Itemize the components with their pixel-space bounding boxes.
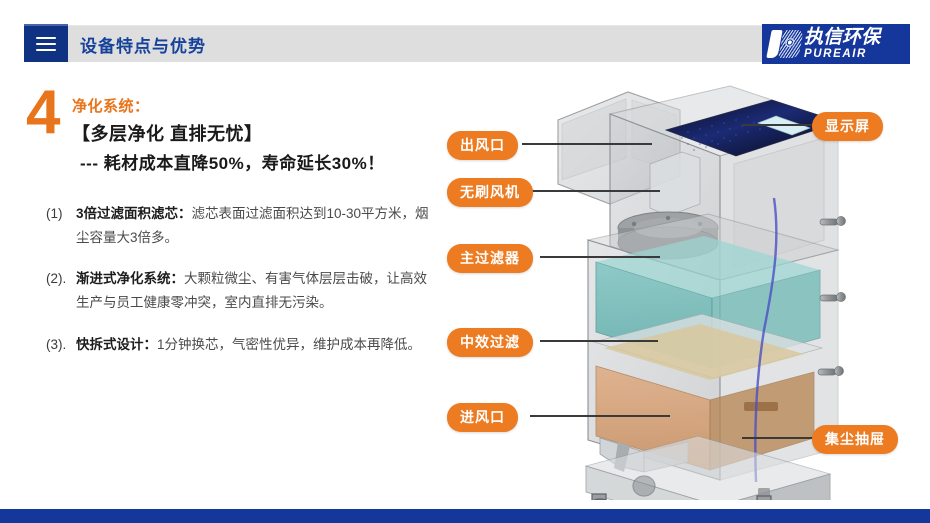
headline-block: 净化系统： 【多层净化 直排无忧】 --- 耗材成本直降50%，寿命延长30%！ xyxy=(72,95,432,174)
list-item-text: 3倍过滤面积滤芯：滤芯表面过滤面积达到10-30平方米，烟尘容量大3倍多。 xyxy=(76,202,436,249)
list-item-text: 快拆式设计：1分钟换芯，气密性优异，维护成本再降低。 xyxy=(76,333,436,357)
list-item-bold: 快拆式设计： xyxy=(76,337,157,352)
callout-air-outlet[interactable]: 出风口 xyxy=(447,131,518,160)
page-header: 设备特点与优势 执信环保 PUREAIR xyxy=(0,26,930,70)
headline-primary: 【多层净化 直排无忧】 xyxy=(72,120,432,146)
list-item-index: (2). xyxy=(46,267,76,314)
hamburger-menu-button[interactable] xyxy=(24,26,68,62)
leader-line-dust-drawer xyxy=(742,437,814,439)
list-item-text: 渐进式净化系统：大颗粒微尘、有害气体层层击破，让高效生产与员工健康零冲突，室内直… xyxy=(76,267,436,314)
callout-medium-filter[interactable]: 中效过滤 xyxy=(447,328,533,357)
callout-air-inlet[interactable]: 进风口 xyxy=(447,403,518,432)
callout-brushless-fan[interactable]: 无刷风机 xyxy=(447,178,533,207)
list-item-bold: 渐进式净化系统： xyxy=(76,271,184,286)
leader-line-medium-filter xyxy=(540,340,658,342)
list-item: (3). 快拆式设计：1分钟换芯，气密性优异，维护成本再降低。 xyxy=(46,333,436,357)
callout-main-filter[interactable]: 主过滤器 xyxy=(447,244,533,273)
feature-list: (1) 3倍过滤面积滤芯：滤芯表面过滤面积达到10-30平方米，烟尘容量大3倍多… xyxy=(46,202,436,374)
callout-dust-drawer[interactable]: 集尘抽屉 xyxy=(812,425,898,454)
section-subtitle: 净化系统： xyxy=(72,95,432,116)
list-item: (1) 3倍过滤面积滤芯：滤芯表面过滤面积达到10-30平方米，烟尘容量大3倍多… xyxy=(46,202,436,249)
leader-line-main-filter xyxy=(540,256,660,258)
list-item-index: (3). xyxy=(46,333,76,357)
leader-line-display xyxy=(742,124,814,126)
hamburger-icon xyxy=(36,33,56,55)
pureair-logo-icon xyxy=(762,24,804,64)
logo-english-name: PUREAIR xyxy=(804,49,880,61)
list-item-index: (1) xyxy=(46,202,76,249)
leader-line-air-outlet xyxy=(522,143,652,145)
leader-line-air-inlet xyxy=(530,415,670,417)
leader-line-brushless-fan xyxy=(530,190,660,192)
list-item-body: 1分钟换芯，气密性优异，维护成本再降低。 xyxy=(157,337,421,352)
page-title: 设备特点与优势 xyxy=(80,26,206,62)
list-item-bold: 3倍过滤面积滤芯： xyxy=(76,206,192,221)
list-item: (2). 渐进式净化系统：大颗粒微尘、有害气体层层击破，让高效生产与员工健康零冲… xyxy=(46,267,436,314)
section-number: 4 xyxy=(26,84,60,143)
callout-display[interactable]: 显示屏 xyxy=(812,112,883,141)
logo-chinese-name: 执信环保 xyxy=(804,28,880,47)
headline-secondary: --- 耗材成本直降50%，寿命延长30%！ xyxy=(72,149,432,174)
footer-bar xyxy=(0,509,930,523)
brand-logo: 执信环保 PUREAIR xyxy=(762,24,910,64)
